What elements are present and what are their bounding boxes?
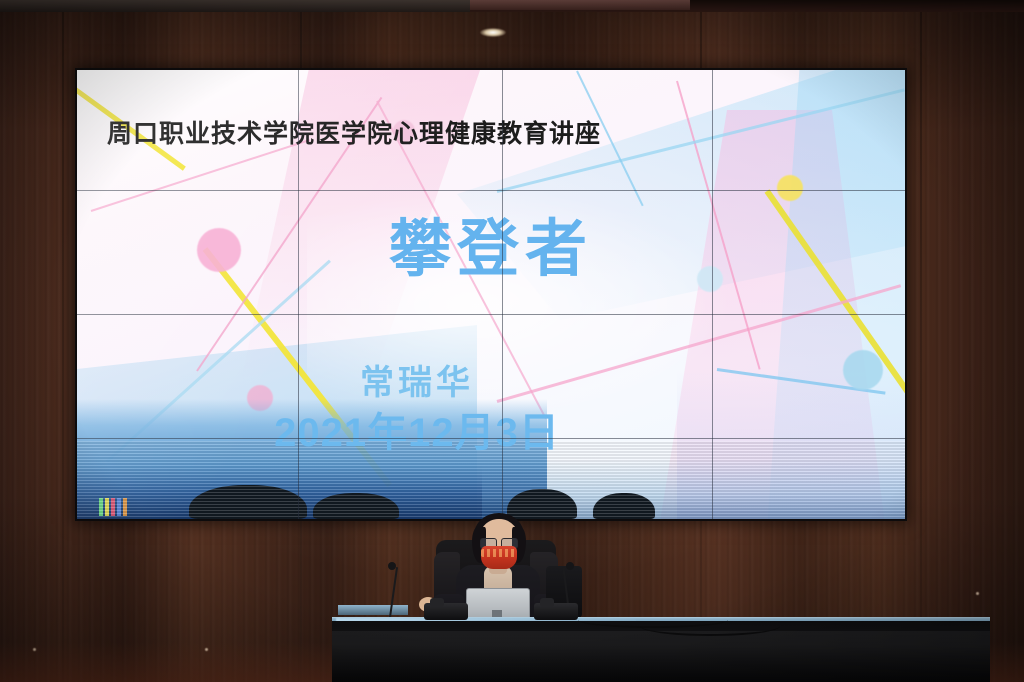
screenshot-root: 周口职业技术学院医学院心理健康教育讲座 攀登者 常瑞华 2021年12月3日 <box>0 0 1024 682</box>
microphone-cap-right <box>540 598 554 607</box>
slide-header-text: 周口职业技术学院医学院心理健康教育讲座 <box>107 114 601 150</box>
wall-speck-1 <box>33 648 36 651</box>
ceiling-light-glint <box>480 28 506 37</box>
bezel-horizontal-1 <box>77 190 905 191</box>
slide-date-text: 2021年12月3日 <box>117 400 717 458</box>
wall-speck-4 <box>976 592 979 595</box>
microphone-head-right <box>566 562 574 570</box>
bezel-vertical-2 <box>502 70 503 519</box>
bezel-horizontal-2 <box>77 314 905 315</box>
slide-title-text: 攀登者 <box>77 198 905 288</box>
microphone-head-left <box>388 562 396 570</box>
face-mask-pattern <box>481 549 517 557</box>
slide-speaker-text: 常瑞华 <box>117 355 717 404</box>
video-wall[interactable]: 周口职业技术学院医学院心理健康教育讲座 攀登者 常瑞华 2021年12月3日 <box>75 68 907 521</box>
video-wall-screen[interactable]: 周口职业技术学院医学院心理健康教育讲座 攀登者 常瑞华 2021年12月3日 <box>77 70 905 519</box>
node-blue-right <box>843 350 883 390</box>
microphone-cable-2 <box>640 616 780 636</box>
wall-speck-2 <box>205 648 208 651</box>
microphone-cap-left <box>430 598 444 607</box>
presentation-slide: 周口职业技术学院医学院心理健康教育讲座 攀登者 常瑞华 2021年12月3日 <box>77 70 905 519</box>
bezel-vertical-3 <box>712 70 713 519</box>
podium-front-shading <box>332 631 990 682</box>
ceiling-panel-right <box>470 0 690 10</box>
bezel-vertical-1 <box>298 70 299 519</box>
side-table-top <box>338 605 408 615</box>
bezel-horizontal-3 <box>77 438 905 439</box>
